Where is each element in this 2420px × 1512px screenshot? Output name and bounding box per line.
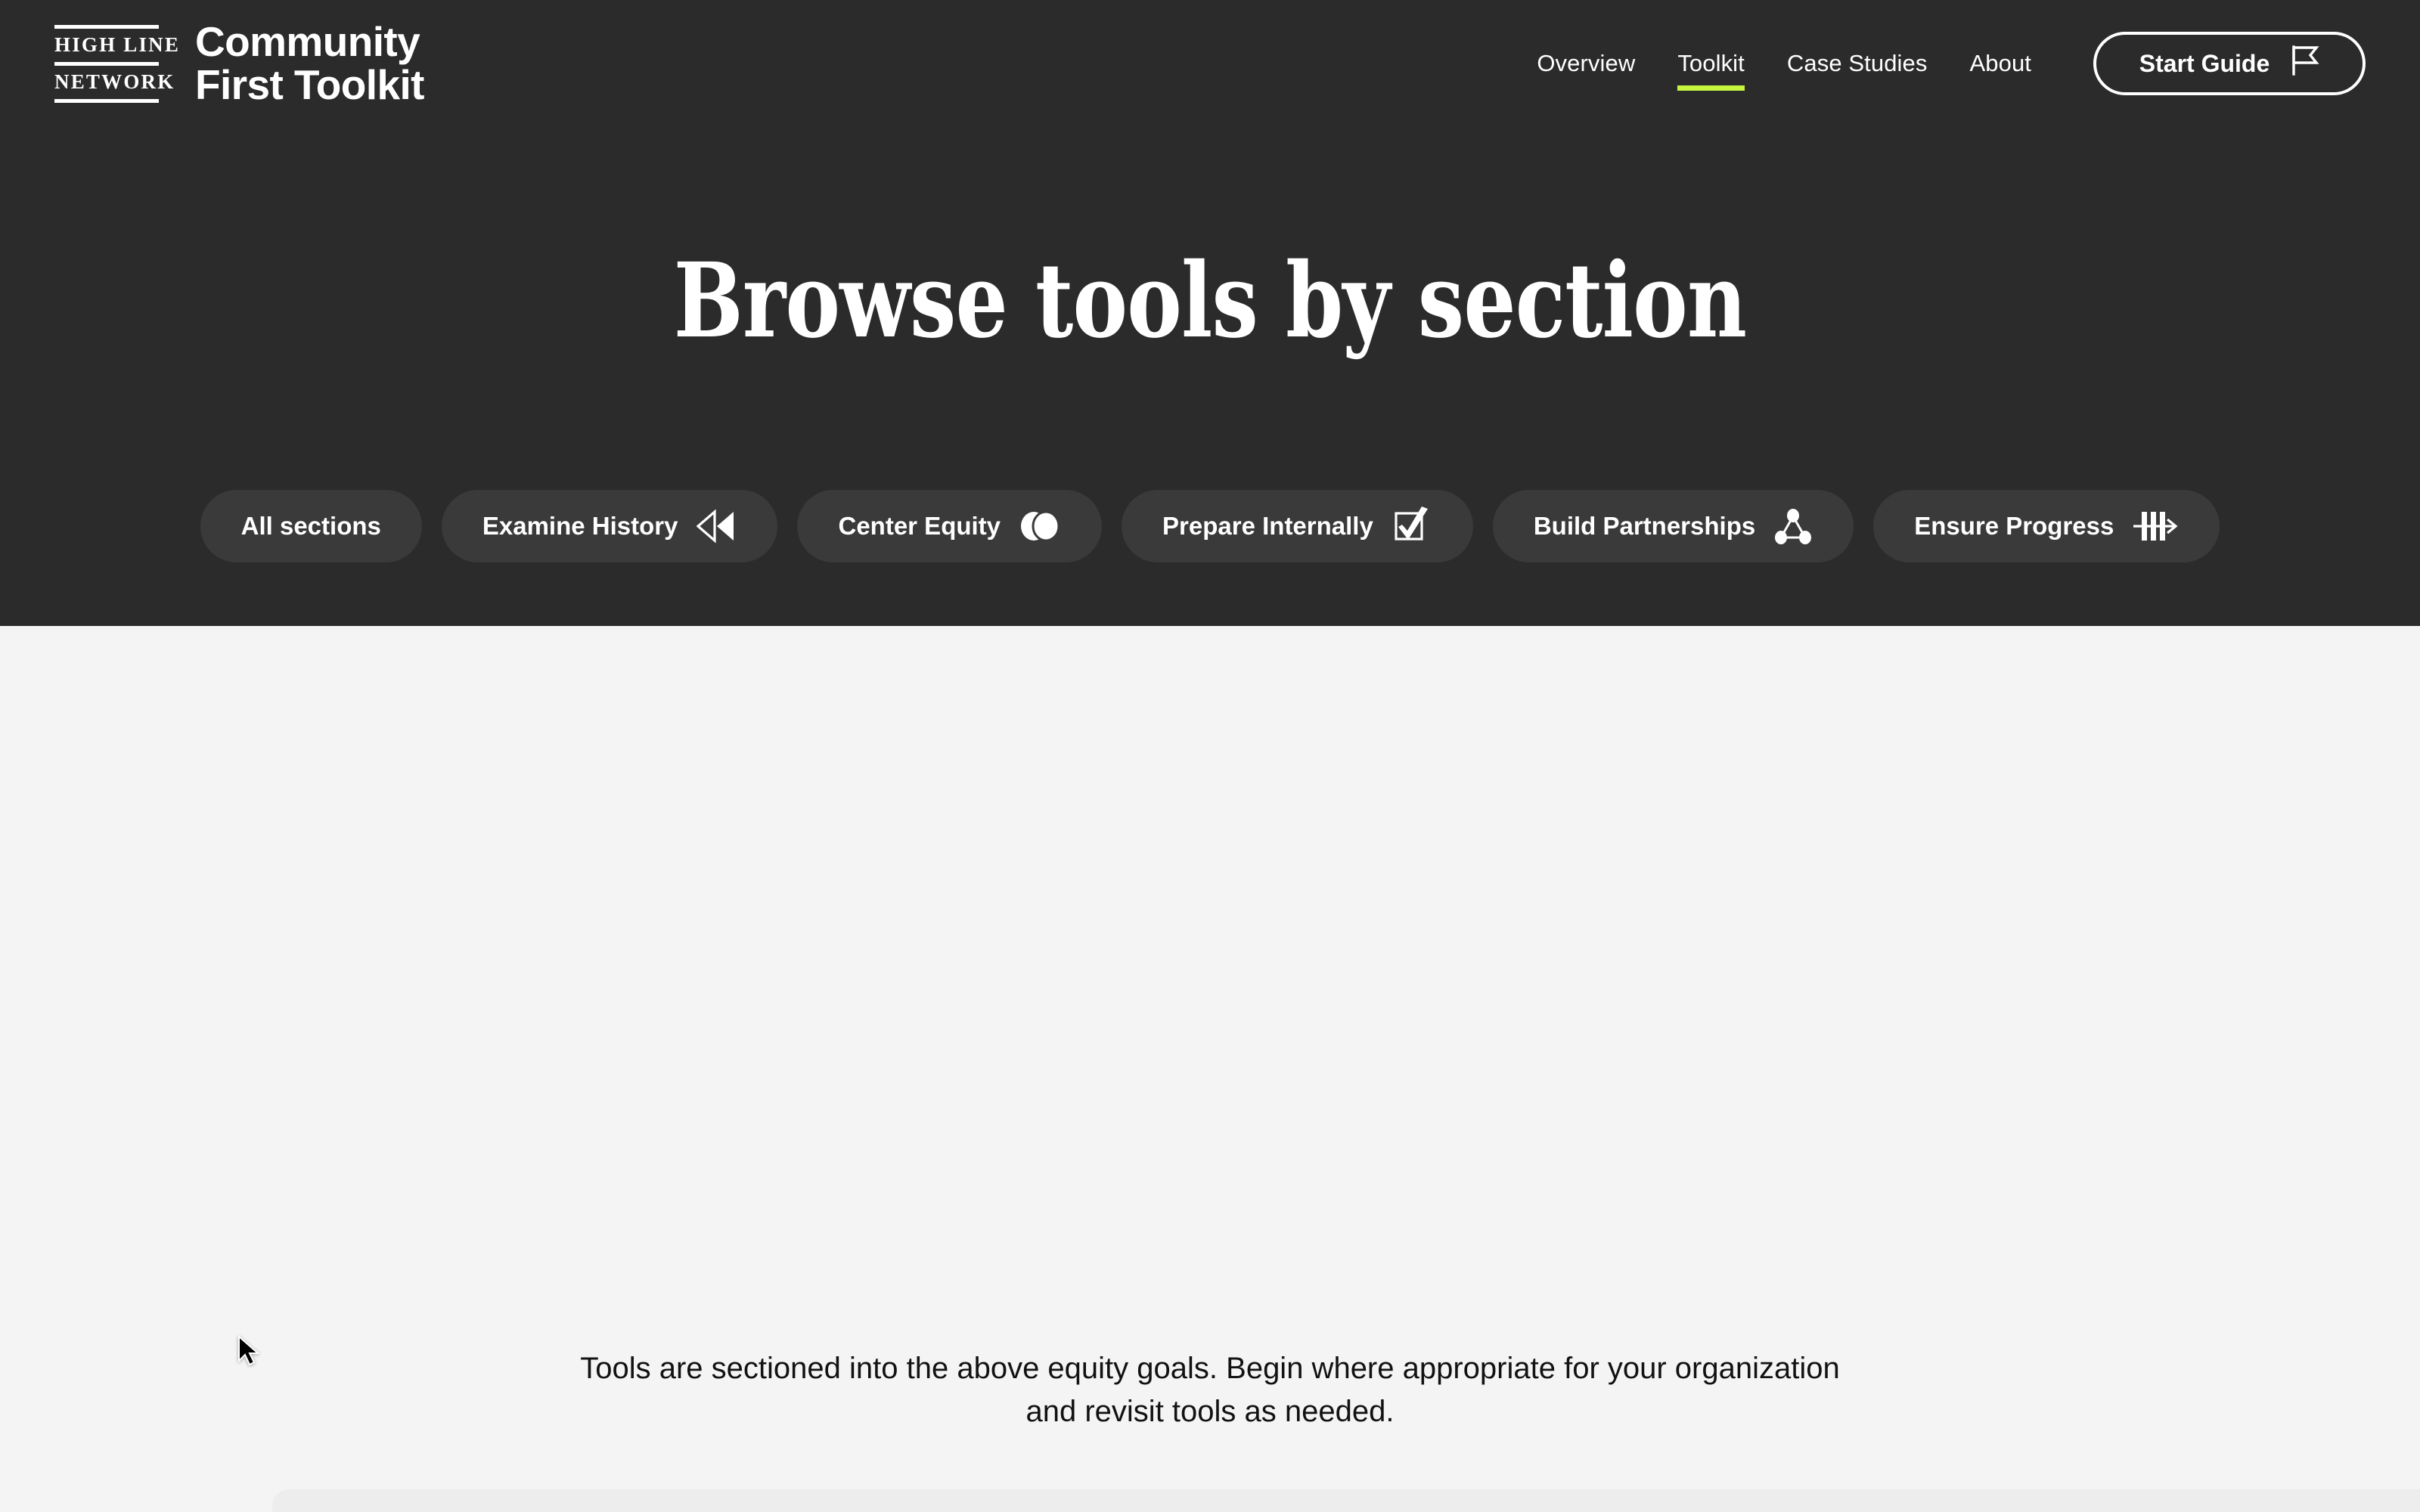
- top-navigation-bar: HIGH LINE NETWORK Community First Toolki…: [0, 0, 2420, 127]
- section-pill-examine-history[interactable]: Examine History: [442, 490, 778, 562]
- logo-text-network: NETWORK: [54, 66, 159, 99]
- nav-link-about[interactable]: About: [1948, 50, 2052, 77]
- logo-rule-bottom: [54, 99, 159, 103]
- section-pill-all-sections[interactable]: All sections: [200, 490, 422, 562]
- high-line-network-logo[interactable]: HIGH LINE NETWORK: [54, 25, 159, 103]
- rewind-icon: [696, 509, 737, 544]
- flag-icon: [2291, 45, 2319, 82]
- hero-section: HIGH LINE NETWORK Community First Toolki…: [0, 0, 2420, 626]
- section-pill-label: Build Partnerships: [1534, 512, 1755, 541]
- section-pill-center-equity[interactable]: Center Equity: [797, 490, 1102, 562]
- logo-text-high-line: HIGH LINE: [54, 29, 159, 62]
- section-pill-label: Center Equity: [838, 512, 1001, 541]
- section-pill-label: Prepare Internally: [1162, 512, 1373, 541]
- nav-link-toolkit[interactable]: Toolkit: [1656, 50, 1766, 77]
- primary-nav: Overview Toolkit Case Studies About Star…: [1516, 32, 2366, 95]
- main-content: Tools are sectioned into the above equit…: [0, 626, 2420, 1512]
- section-pill-label: Examine History: [482, 512, 678, 541]
- section-filter-bar: All sections Examine History Center Equi…: [0, 490, 2420, 562]
- node-network-icon: [1773, 507, 1813, 545]
- section-pill-ensure-progress[interactable]: Ensure Progress: [1873, 490, 2220, 562]
- start-guide-label: Start Guide: [2139, 50, 2270, 78]
- section-pill-build-partnerships[interactable]: Build Partnerships: [1493, 490, 1854, 562]
- checkbox-check-icon: [1391, 507, 1432, 546]
- start-guide-button[interactable]: Start Guide: [2093, 32, 2366, 95]
- section-pill-label: Ensure Progress: [1914, 512, 2114, 541]
- milestones-arrow-icon: [2132, 508, 2179, 544]
- venn-circles-icon: [1019, 509, 1061, 544]
- nav-link-case-studies[interactable]: Case Studies: [1766, 50, 1949, 77]
- site-title: Community First Toolkit: [195, 20, 513, 106]
- section-pill-label: All sections: [241, 512, 381, 541]
- mouse-cursor: [237, 1335, 262, 1367]
- page-title: Browse tools by section: [242, 249, 2178, 352]
- section-intro-text: Tools are sectioned into the above equit…: [567, 1347, 1853, 1433]
- section-pill-prepare-internally[interactable]: Prepare Internally: [1122, 490, 1473, 562]
- brand-block[interactable]: HIGH LINE NETWORK Community First Toolki…: [54, 20, 513, 106]
- nav-link-overview[interactable]: Overview: [1516, 50, 1656, 77]
- next-section-peek: [272, 1489, 2420, 1512]
